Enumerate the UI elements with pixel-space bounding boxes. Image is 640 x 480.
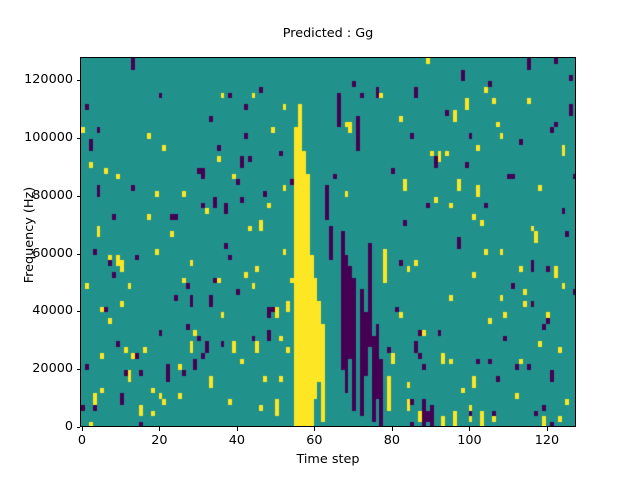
y-tick-mark (77, 196, 81, 197)
heatmap-image (81, 58, 576, 427)
x-tick-mark (392, 427, 393, 431)
x-tick-label: 40 (207, 433, 267, 448)
y-tick-label: 100000 (0, 130, 73, 145)
y-tick-mark (77, 254, 81, 255)
x-tick-label: 0 (52, 433, 112, 448)
x-tick-mark (547, 427, 548, 431)
x-tick-mark (82, 427, 83, 431)
x-tick-label: 120 (517, 433, 577, 448)
x-tick-mark (469, 427, 470, 431)
heatmap-axes (80, 57, 576, 427)
y-tick-mark (77, 311, 81, 312)
x-tick-label: 80 (362, 433, 422, 448)
y-tick-label: 80000 (0, 188, 73, 203)
y-tick-label: 0 (0, 419, 73, 434)
y-tick-label: 120000 (0, 72, 73, 87)
y-tick-mark (77, 427, 81, 428)
x-tick-label: 20 (129, 433, 189, 448)
x-tick-label: 100 (439, 433, 499, 448)
y-tick-label: 40000 (0, 303, 73, 318)
y-tick-label: 20000 (0, 361, 73, 376)
x-tick-mark (159, 427, 160, 431)
x-tick-label: 60 (284, 433, 344, 448)
page-title: Predicted : Gg (80, 26, 576, 42)
x-tick-mark (237, 427, 238, 431)
x-tick-mark (314, 427, 315, 431)
y-tick-mark (77, 138, 81, 139)
y-tick-mark (77, 369, 81, 370)
y-tick-label: 60000 (0, 246, 73, 261)
x-axis-label: Time step (80, 452, 576, 468)
y-tick-mark (77, 80, 81, 81)
matplotlib-figure: Predicted : Gg Time step Frequency (Hz) … (0, 0, 640, 480)
